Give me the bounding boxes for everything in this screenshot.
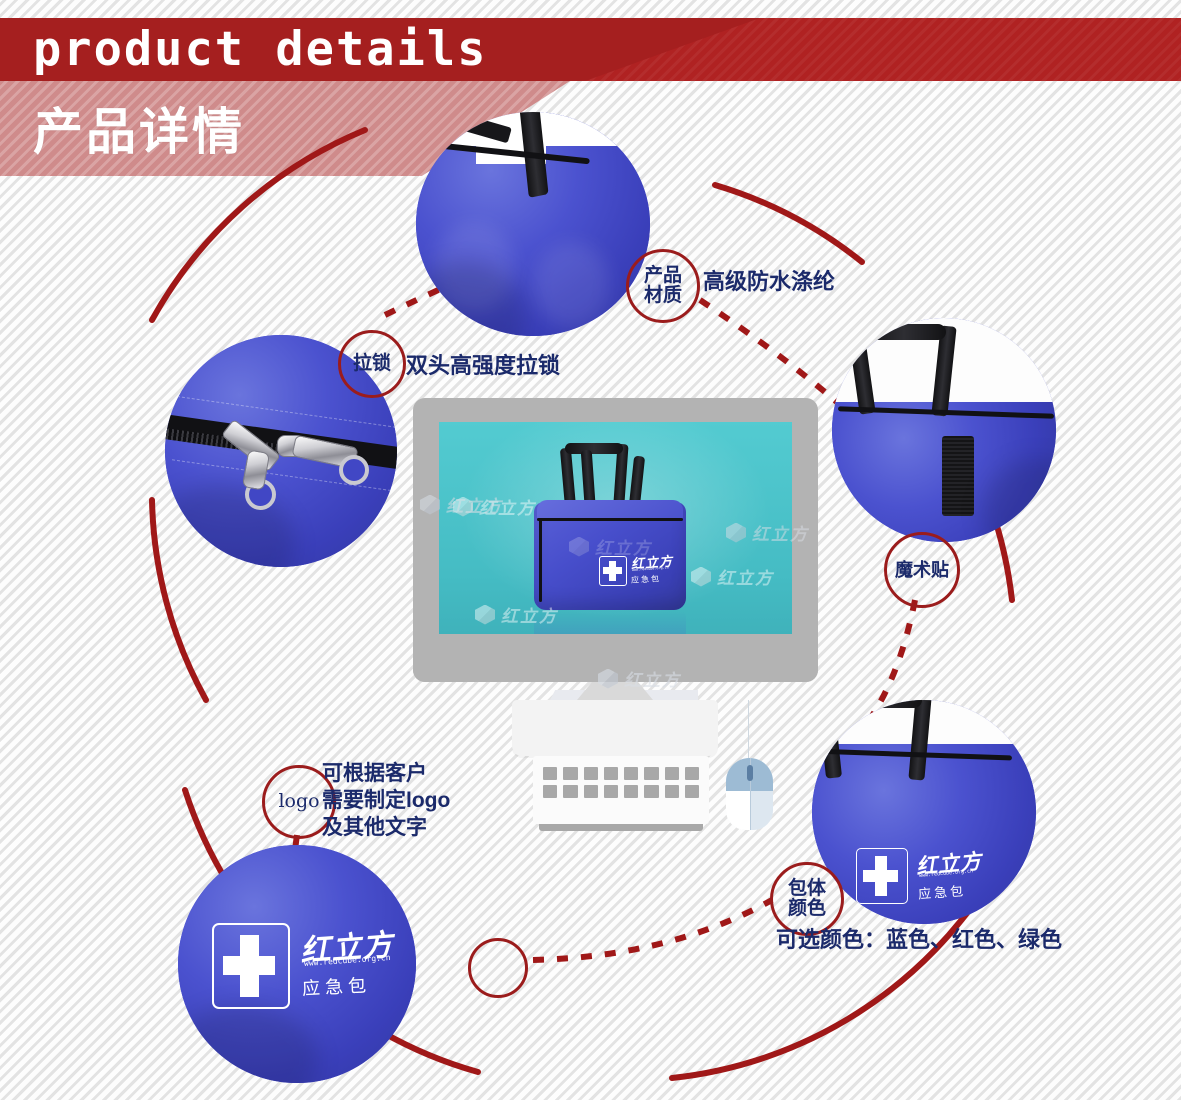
mouse-icon — [726, 758, 773, 830]
callout-text-body-color: 可选颜色：蓝色、红色、绿色 — [776, 922, 1062, 954]
keyboard-keys — [543, 767, 699, 798]
monitor-chin — [413, 648, 818, 682]
velcro-strip — [942, 436, 974, 516]
page-title-en: product details — [33, 18, 487, 81]
cross-horizontal — [223, 956, 275, 975]
callout-text-line: 及其他文字 — [322, 815, 472, 842]
screen-product-bag: 红立方 www.redcube.org.cn 应急包 — [531, 444, 721, 630]
callout-text-logo: 可根据客户 需要制定logo 及其他文字 — [322, 761, 472, 842]
keyboard-base — [539, 824, 703, 831]
monitor-icon: 红立方 www.redcube.org.cn 应急包 红立方 红立方 红立方 — [413, 398, 818, 682]
callout-text-line: 可根据客户 — [322, 761, 472, 788]
product-details-page: product details 产品详情 — [0, 0, 1181, 1100]
medical-cross-icon — [599, 556, 627, 586]
page-title-cn: 产品详情 — [33, 85, 245, 171]
bag-reflection — [534, 611, 686, 634]
keyboard-key — [584, 767, 598, 780]
mouse-cord — [748, 700, 749, 760]
mouse-wheel — [747, 765, 753, 781]
keyboard-key — [584, 785, 598, 798]
callout-badge-zipper: 拉锁 — [338, 330, 406, 398]
brand-print: 红立方 www.redcube.org.cn 应急包 — [812, 700, 1036, 924]
keyboard-key — [685, 767, 699, 780]
callout-text-zipper: 双头高强度拉锁 — [406, 348, 560, 380]
keyboard-key — [604, 785, 618, 798]
photo-material — [416, 112, 650, 336]
callout-badge-label: 拉锁 — [353, 354, 391, 374]
bag-handle-strap — [862, 324, 946, 340]
cross-horizontal — [863, 870, 898, 882]
brand-print: 红立方 www.redcube.org.cn 应急包 — [531, 444, 721, 630]
keyboard-key — [624, 785, 638, 798]
brand-subtitle: 应急包 — [301, 971, 371, 1001]
keyboard-key — [624, 767, 638, 780]
keyboard-key — [563, 785, 577, 798]
callout-text-material: 高级防水涤纶 — [703, 264, 835, 296]
callout-badge-velcro: 魔术贴 — [884, 532, 960, 608]
mouse-right-button — [750, 791, 774, 830]
brand-subtitle: 应急包 — [917, 880, 966, 902]
monitor-screen: 红立方 www.redcube.org.cn 应急包 红立方 红立方 红立方 — [439, 422, 792, 634]
photo-logo: 红立方 www.redcube.org.cn 应急包 — [178, 845, 416, 1083]
callout-badge-label: 产品 材质 — [644, 266, 682, 306]
photo-velcro — [832, 318, 1056, 542]
brand-print: 红立方 www.redcube.org.cn 应急包 — [178, 845, 416, 1083]
zipper-pull-hole — [339, 455, 369, 485]
keyboard-key — [685, 785, 699, 798]
callout-badge-label: 包体 颜色 — [788, 879, 826, 919]
keyboard-icon — [533, 756, 709, 824]
callout-badge-label: 魔术贴 — [895, 561, 949, 580]
brand-subtitle: 应急包 — [631, 573, 662, 586]
keyboard-key — [644, 785, 658, 798]
keyboard-key — [665, 785, 679, 798]
medical-cross-icon — [212, 923, 290, 1009]
callout-badge-label: logo — [278, 792, 319, 812]
photo-color: 红立方 www.redcube.org.cn 应急包 — [812, 700, 1036, 924]
callout-badge-material: 产品 材质 — [626, 249, 700, 323]
fabric-fold — [534, 242, 610, 328]
cross-horizontal — [603, 567, 622, 574]
keyboard-key — [604, 767, 618, 780]
keyboard-key — [665, 767, 679, 780]
keyboard-key — [543, 785, 557, 798]
keyboard-key — [563, 767, 577, 780]
callout-text-line: 需要制定logo — [322, 788, 472, 815]
medical-cross-icon — [856, 848, 908, 904]
keyboard-key — [543, 767, 557, 780]
mouse-left-button — [726, 791, 750, 830]
monitor-foot — [512, 700, 718, 756]
decorative-circle — [468, 938, 528, 998]
keyboard-key — [644, 767, 658, 780]
